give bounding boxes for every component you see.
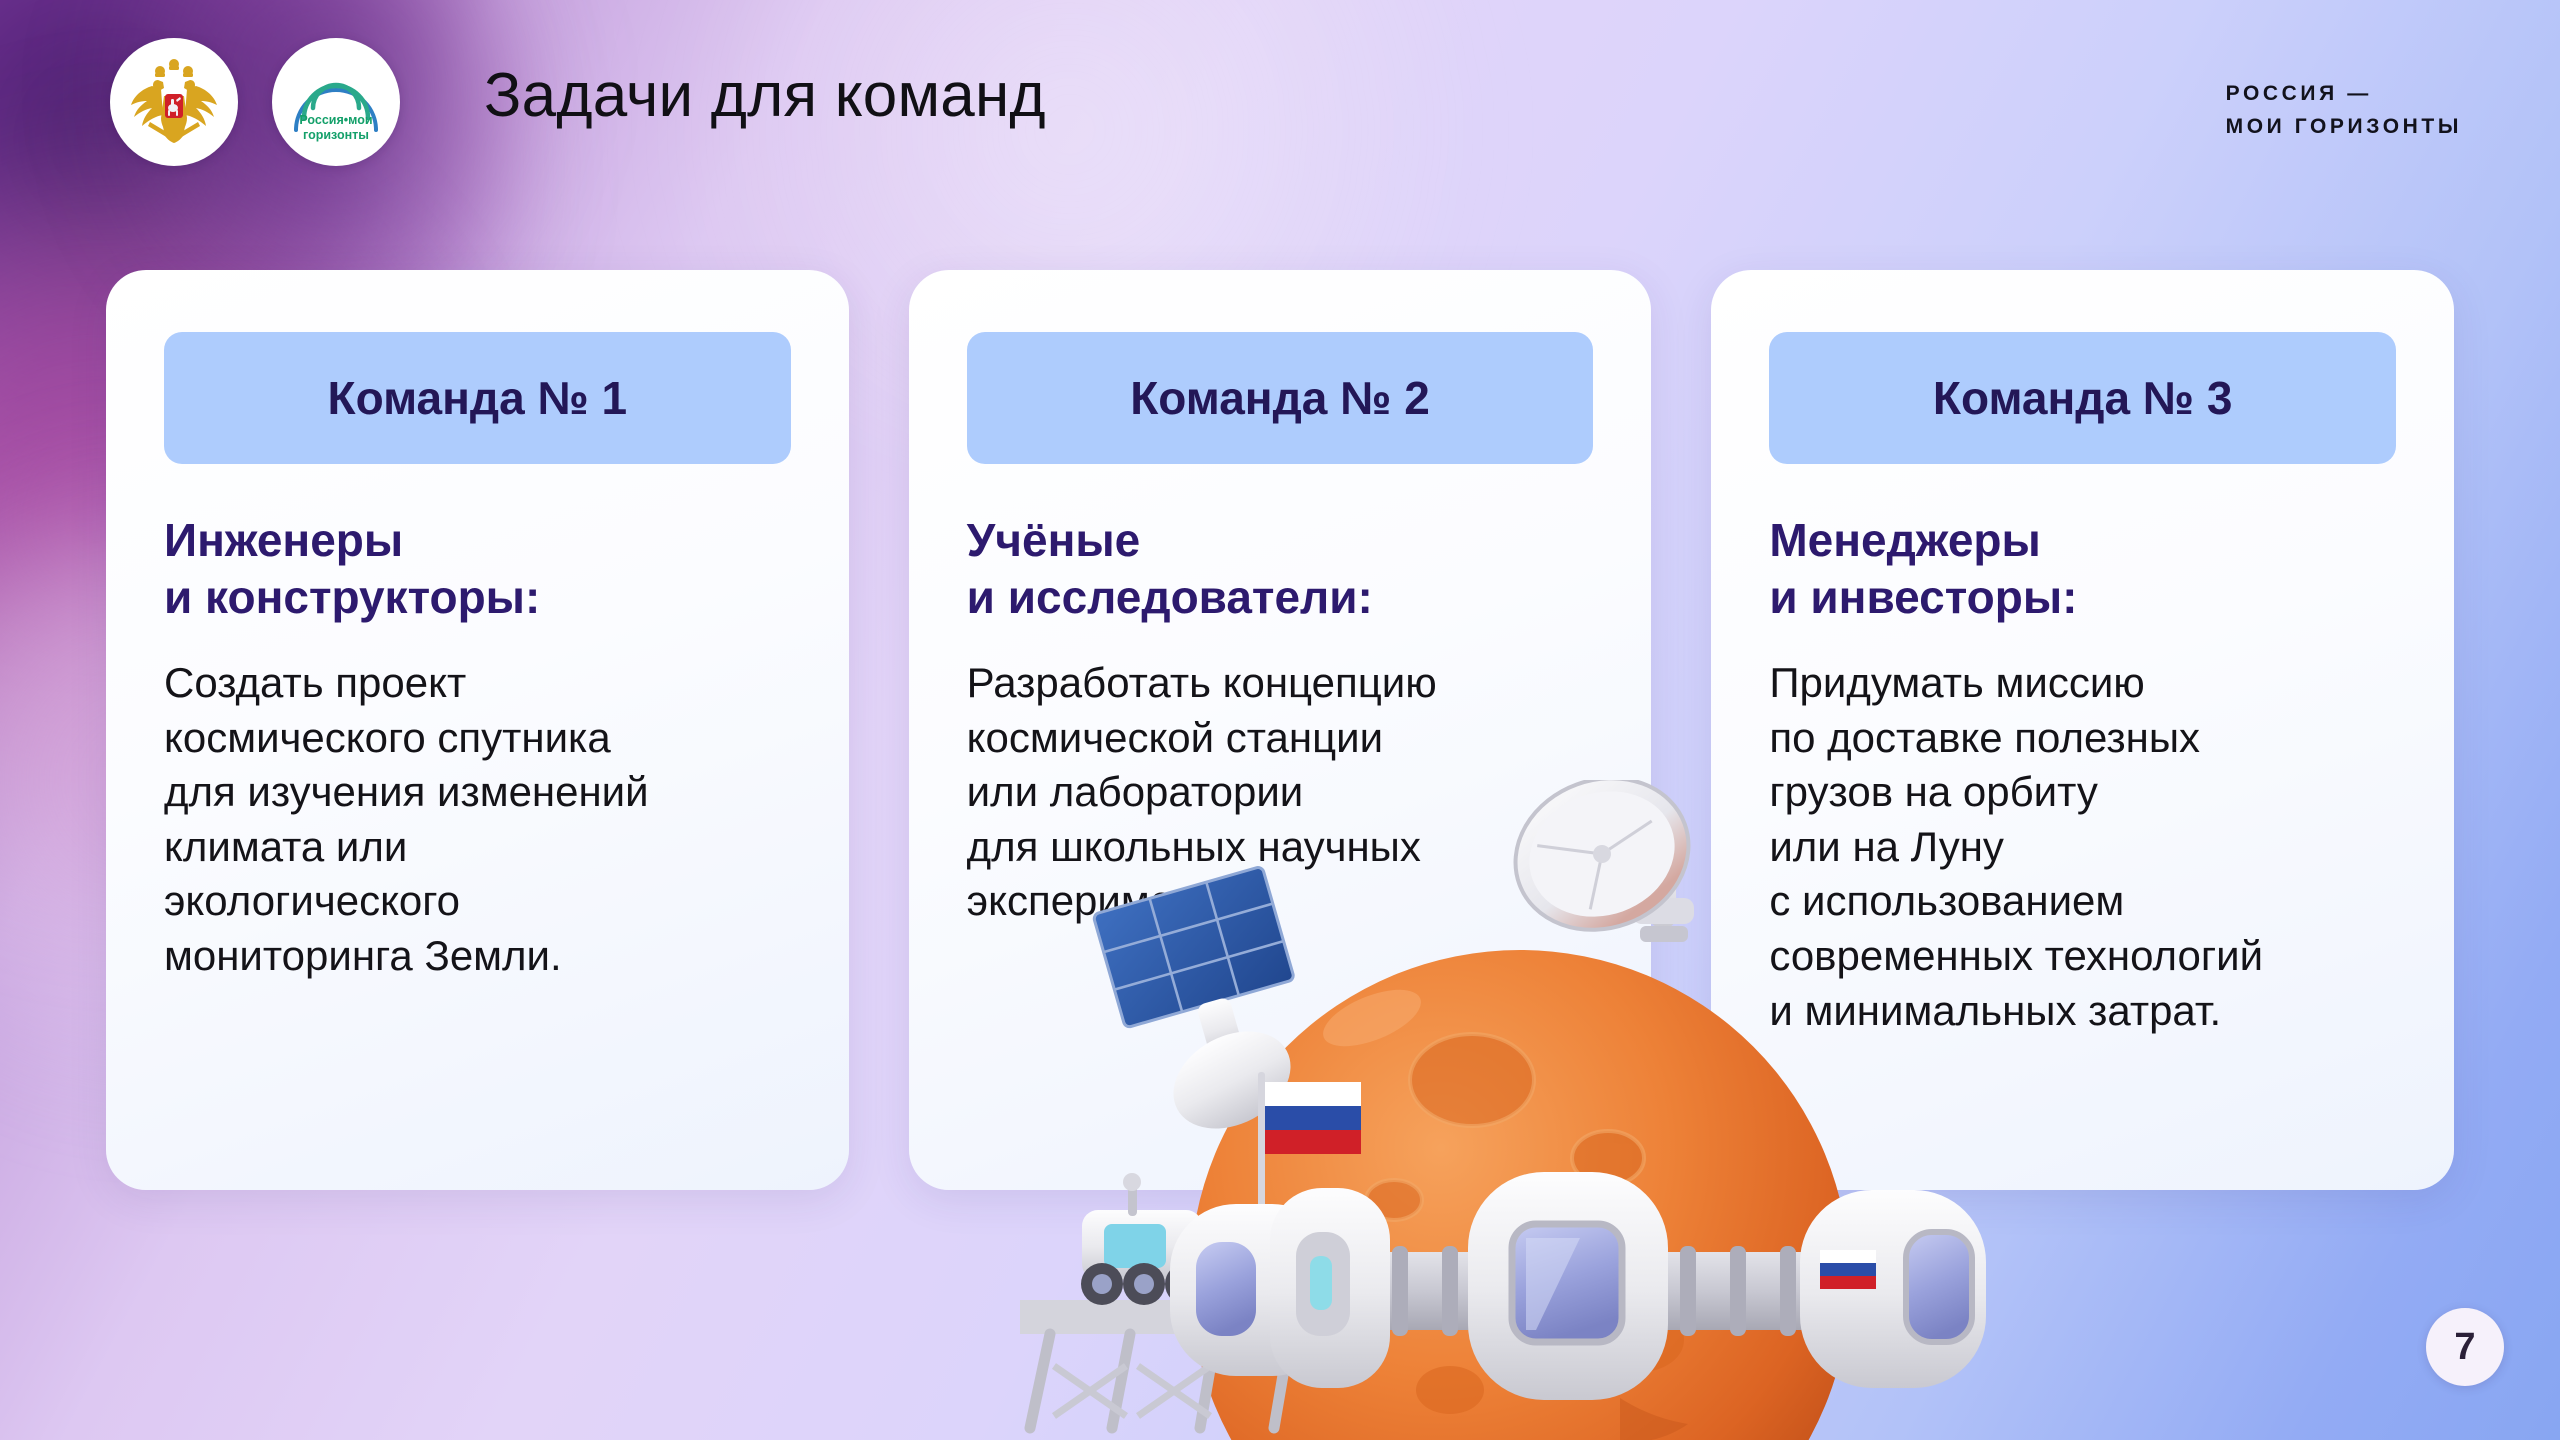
heading-line: и конструкторы: bbox=[164, 569, 791, 626]
heading-line: Менеджеры bbox=[1769, 512, 2396, 569]
team-card-2: Команда № 2 Учёные и исследователи: Разр… bbox=[909, 270, 1652, 1190]
body-line: космического спутника bbox=[164, 711, 791, 766]
brand-line-2: МОИ ГОРИЗОНТЫ bbox=[2226, 111, 2462, 144]
team-heading-3: Менеджеры и инвесторы: bbox=[1769, 512, 2396, 626]
body-line: экспериментов. bbox=[967, 874, 1594, 929]
team-card-3: Команда № 3 Менеджеры и инвесторы: Приду… bbox=[1711, 270, 2454, 1190]
heading-line: Учёные bbox=[967, 512, 1594, 569]
body-line: с использованием bbox=[1769, 874, 2396, 929]
body-line: климата или bbox=[164, 820, 791, 875]
team-body-2: Разработать концепцию космической станци… bbox=[967, 656, 1594, 929]
brand-wordmark: РОССИЯ — МОИ ГОРИЗОНТЫ bbox=[2226, 78, 2462, 143]
body-line: или на Луну bbox=[1769, 820, 2396, 875]
body-line: грузов на орбиту bbox=[1769, 765, 2396, 820]
rossiya-moi-gorizonty-logo-icon: Россия•мои горизонты bbox=[272, 38, 400, 166]
heading-line: и исследователи: bbox=[967, 569, 1594, 626]
body-line: или лаборатории bbox=[967, 765, 1594, 820]
body-line: космической станции bbox=[967, 711, 1594, 766]
slide-header: Россия•мои горизонты Задачи для команд Р… bbox=[0, 0, 2560, 190]
body-line: Придумать миссию bbox=[1769, 656, 2396, 711]
body-line: Создать проект bbox=[164, 656, 791, 711]
team-badge-2: Команда № 2 bbox=[967, 332, 1594, 464]
heading-line: Инженеры bbox=[164, 512, 791, 569]
body-line: мониторинга Земли. bbox=[164, 929, 791, 984]
body-line: современных технологий bbox=[1769, 929, 2396, 984]
team-badge-1: Команда № 1 bbox=[164, 332, 791, 464]
landing-platform bbox=[1020, 1300, 1320, 1428]
space-station-modules bbox=[1170, 1172, 1986, 1400]
rover bbox=[1081, 1173, 1207, 1305]
body-line: для изучения изменений bbox=[164, 765, 791, 820]
body-line: экологического bbox=[164, 874, 791, 929]
page-title: Задачи для команд bbox=[484, 62, 1046, 130]
team-body-3: Придумать миссию по доставке полезных гр… bbox=[1769, 656, 2396, 1038]
team-heading-1: Инженеры и конструкторы: bbox=[164, 512, 791, 626]
presentation-slide: Россия•мои горизонты Задачи для команд Р… bbox=[0, 0, 2560, 1440]
module-flag-decal bbox=[1820, 1250, 1876, 1289]
body-line: Разработать концепцию bbox=[967, 656, 1594, 711]
page-number-badge: 7 bbox=[2426, 1308, 2504, 1386]
logo-text-line1: Россия•мои bbox=[299, 113, 372, 127]
team-task-cards: Команда № 1 Инженеры и конструкторы: Соз… bbox=[106, 270, 2454, 1190]
logo-text-line2: горизонты bbox=[303, 128, 369, 142]
team-card-1: Команда № 1 Инженеры и конструкторы: Соз… bbox=[106, 270, 849, 1190]
body-line: для школьных научных bbox=[967, 820, 1594, 875]
heading-line: и инвесторы: bbox=[1769, 569, 2396, 626]
team-heading-2: Учёные и исследователи: bbox=[967, 512, 1594, 626]
brand-line-1: РОССИЯ — bbox=[2226, 78, 2462, 111]
body-line: и минимальных затрат. bbox=[1769, 984, 2396, 1039]
russian-coat-of-arms-emblem-icon bbox=[110, 38, 238, 166]
body-line: по доставке полезных bbox=[1769, 711, 2396, 766]
team-body-1: Создать проект космического спутника для… bbox=[164, 656, 791, 984]
team-badge-3: Команда № 3 bbox=[1769, 332, 2396, 464]
